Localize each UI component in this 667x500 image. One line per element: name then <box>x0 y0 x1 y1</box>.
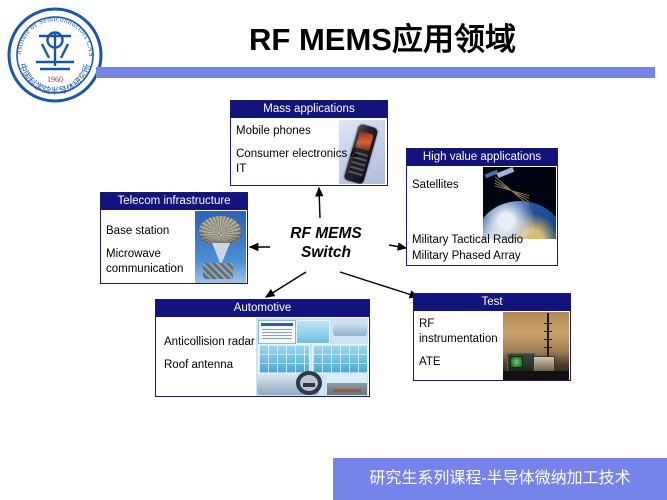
list-item: Microwave communication <box>106 247 196 277</box>
slide-canvas: Institute of Semiconductors CAS 中国科学院半导体… <box>0 0 667 500</box>
box-body-test: RF instrumentation ATE <box>414 311 570 381</box>
arrow-to-automotive <box>266 272 306 297</box>
center-label-line2: Switch <box>268 243 384 262</box>
title-accent-bar <box>96 67 655 78</box>
box-telecom-infrastructure[interactable]: Telecom infrastructure Base station Micr… <box>100 192 248 284</box>
footer-text: 研究生系列课程-半导体微纳加工技术 <box>333 458 667 500</box>
list-item: Base station <box>106 224 202 239</box>
list-item: RF instrumentation <box>419 317 503 347</box>
box-header-high-value-applications: High value applications <box>407 149 557 166</box>
box-header-telecom-infrastructure: Telecom infrastructure <box>101 193 247 210</box>
list-item: ATE <box>419 355 507 370</box>
arrow-to-mass-applications <box>319 188 320 218</box>
list-item: Military Tactical Radio <box>412 233 523 248</box>
box-lines-test: RF instrumentation ATE <box>414 311 511 370</box>
box-automotive[interactable]: Automotive Anticollision radar Roof ante… <box>155 299 370 397</box>
arrow-to-test <box>340 272 418 297</box>
institute-logo: Institute of Semiconductors CAS 中国科学院半导体… <box>6 6 104 104</box>
slide-title: RF MEMS应用领域 <box>110 14 655 59</box>
center-label-line1: RF MEMS <box>268 224 384 243</box>
list-item: Military Phased Array <box>412 249 523 264</box>
box-lines-high-value-applications-bottom: Military Tactical Radio Military Phased … <box>407 233 527 264</box>
list-item: Anticollision radar <box>164 335 365 350</box>
list-item: Mobile phones <box>236 124 383 139</box>
box-header-automotive: Automotive <box>156 300 369 317</box>
box-body-high-value-applications: Satellites Military Tactical Radio Milit… <box>407 166 557 266</box>
list-item: Satellites <box>412 178 553 193</box>
box-body-automotive: Anticollision radar Roof antenna <box>156 317 369 397</box>
box-lines-telecom-infrastructure: Base station Microwave communication <box>101 210 206 277</box>
box-high-value-applications[interactable]: High value applications Satellites Milit… <box>406 148 558 266</box>
svg-text:1960: 1960 <box>47 75 63 84</box>
box-lines-mass-applications: Mobile phones Consumer electronics & IT <box>231 118 387 177</box>
box-header-test: Test <box>414 294 570 311</box>
box-test[interactable]: Test RF instrumentation ATE <box>413 293 571 381</box>
box-lines-high-value-applications: Satellites <box>407 166 557 193</box>
box-body-mass-applications: Mobile phones Consumer electronics & IT <box>231 118 387 186</box>
center-label: RF MEMS Switch <box>268 224 384 262</box>
box-lines-automotive: Anticollision radar Roof antenna <box>156 317 369 373</box>
box-body-telecom-infrastructure: Base station Microwave communication <box>101 210 247 284</box>
box-mass-applications[interactable]: Mass applications Mobile phones Consumer… <box>230 100 388 186</box>
box-header-mass-applications: Mass applications <box>231 101 387 118</box>
rf-test-equipment-photo <box>503 312 569 380</box>
list-item: Consumer electronics & IT <box>236 147 364 177</box>
list-item: Roof antenna <box>164 358 365 373</box>
arrow-to-high-value-applications <box>389 245 406 248</box>
